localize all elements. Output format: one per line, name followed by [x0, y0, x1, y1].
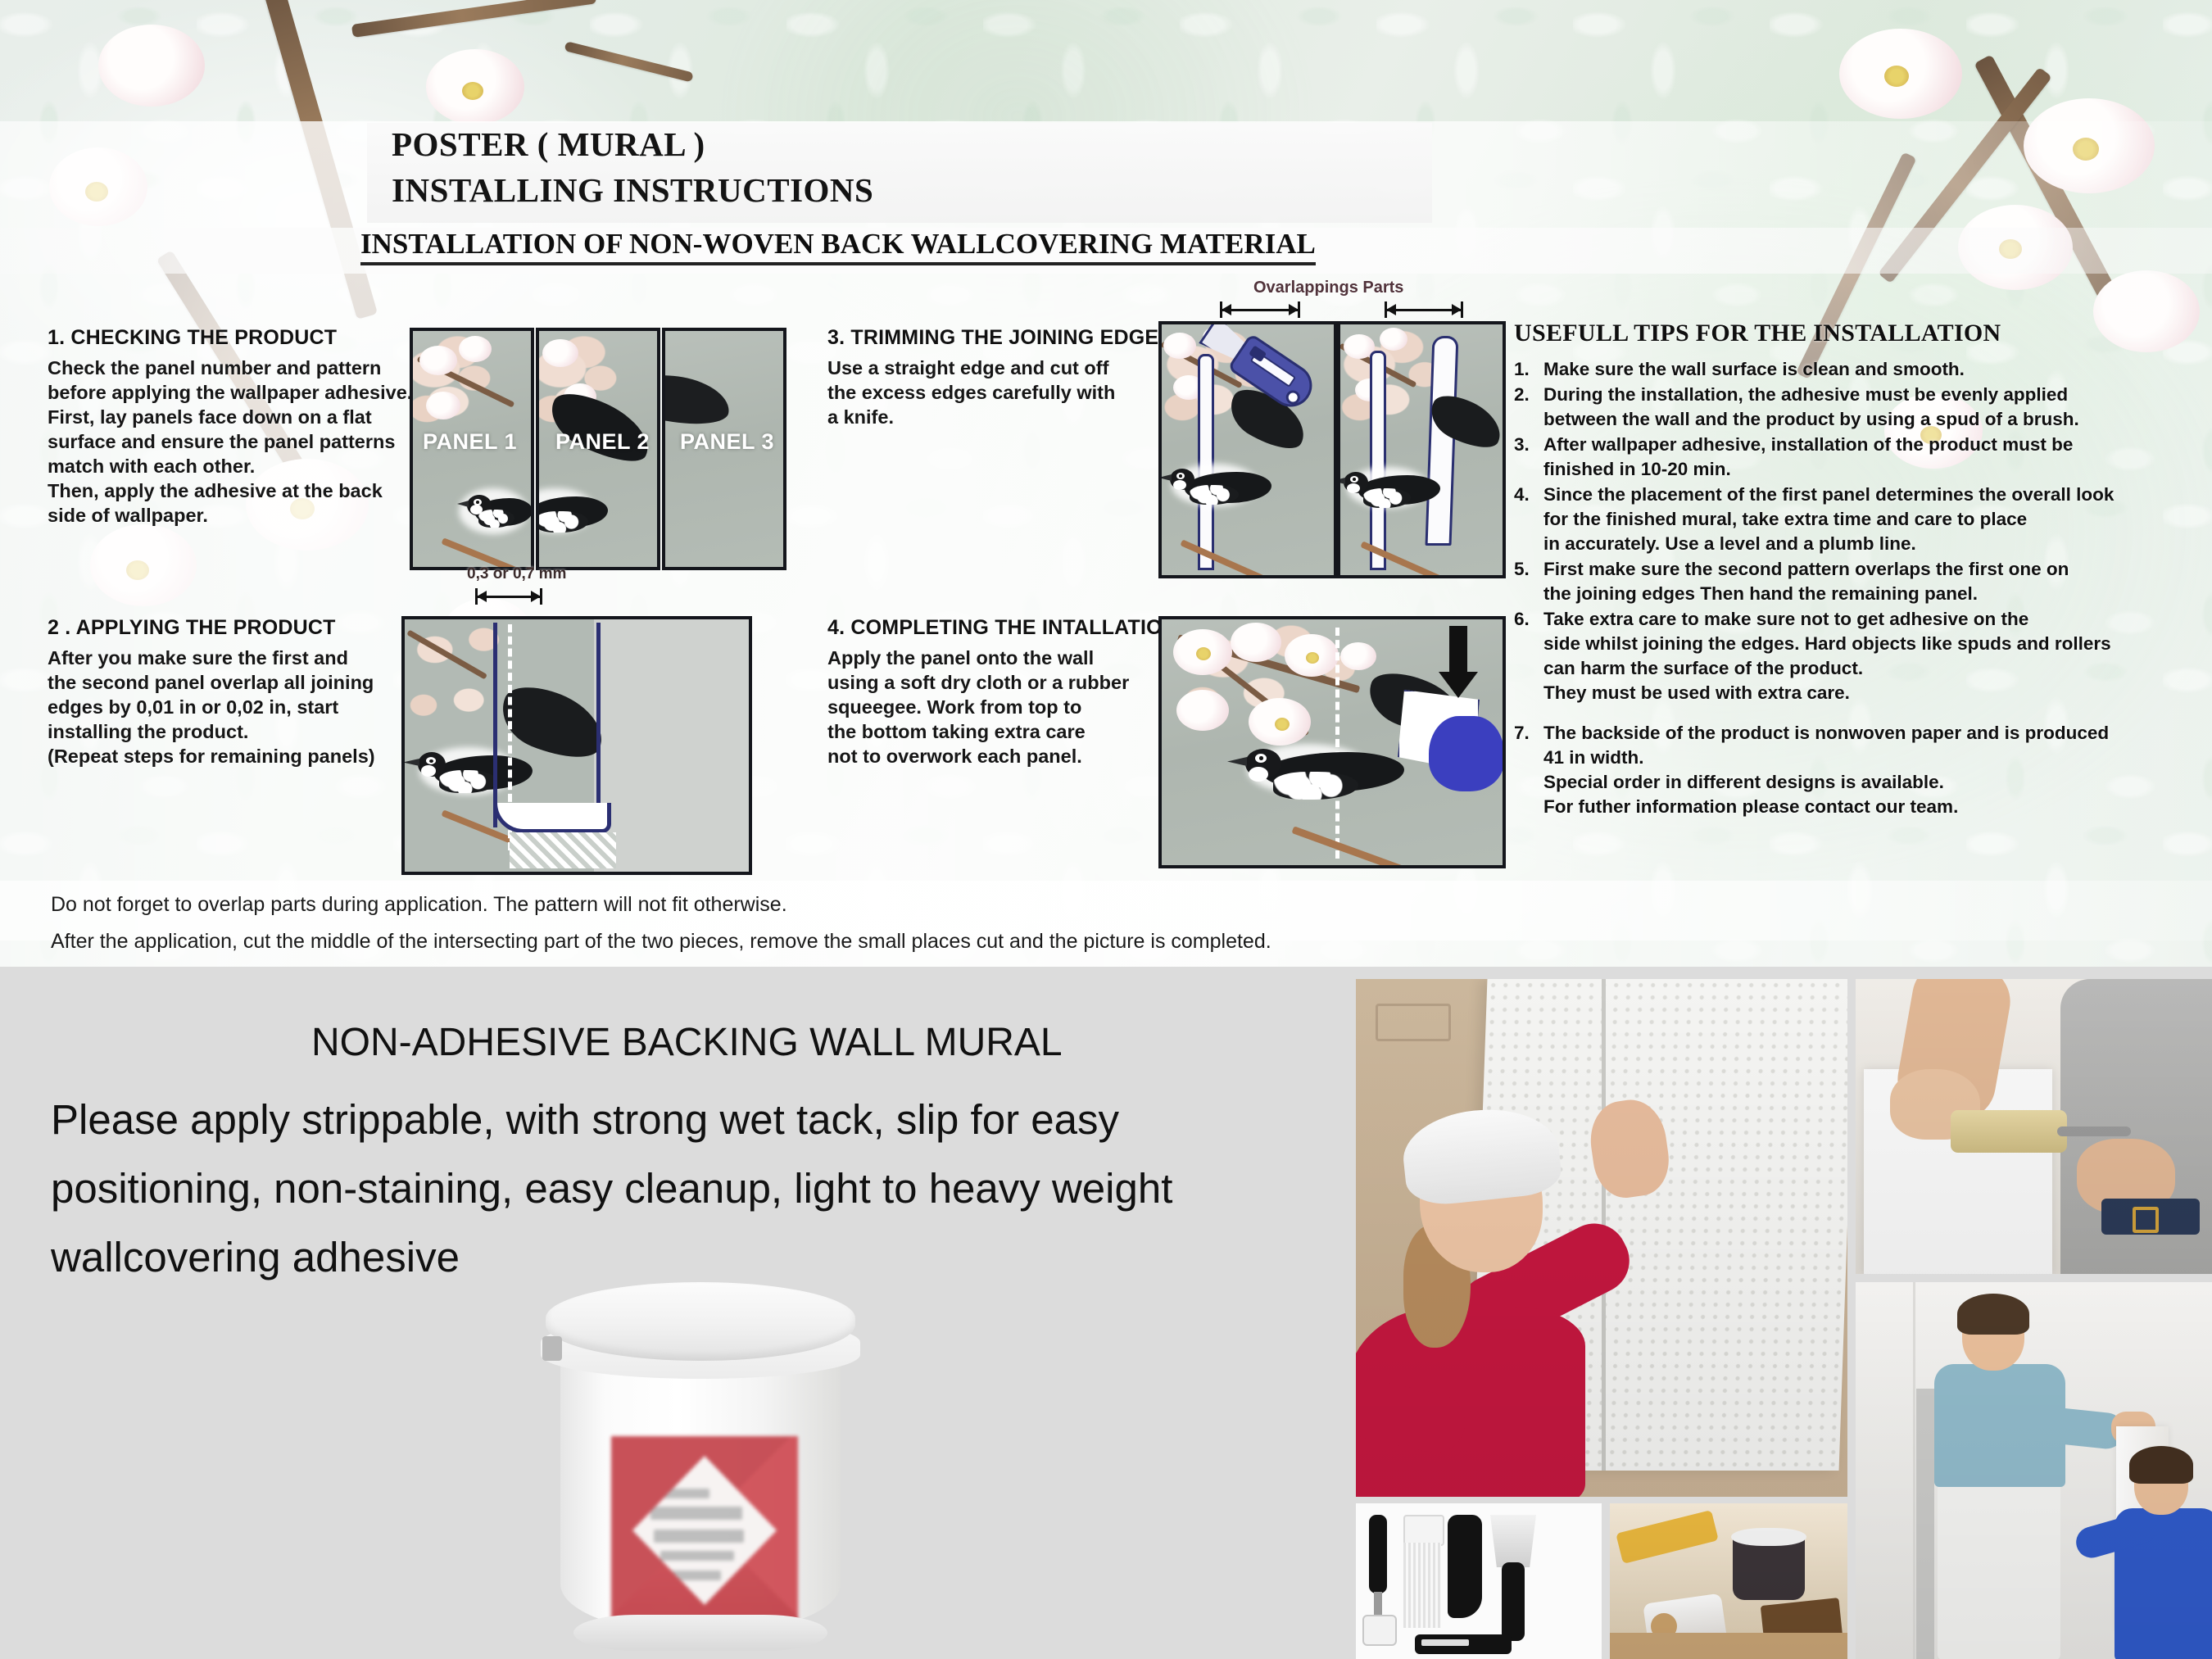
step-1-line-3: First, lay panels face down on a flat — [48, 405, 433, 429]
bottom-paragraph-line-2: positioning, non-staining, easy cleanup,… — [51, 1154, 1329, 1223]
mural-artwork — [1340, 324, 1503, 575]
tip-line: the joining edges Then hand the remainin… — [1543, 582, 2069, 606]
step-3-block: 3. TRIMMING THE JOINING EDGES Use a stra… — [827, 326, 1180, 429]
gloved-hand-icon — [1429, 716, 1504, 791]
step-2-heading: 2 . APPLYING THE PRODUCT — [48, 616, 441, 640]
tip-line: They must be used with extra care. — [1543, 681, 2111, 705]
tip-item-1: 1. Make sure the wall surface is clean a… — [1514, 357, 2202, 382]
page-subtitle: INSTALLATION OF NON-WOVEN BACK WALLCOVER… — [360, 228, 1316, 265]
tip-text: Take extra care to make sure not to get … — [1543, 607, 2111, 705]
poster-page: POSTER ( MURAL ) INSTALLING INSTRUCTIONS… — [0, 0, 2212, 1659]
step-2-line-1: After you make sure the first and — [48, 646, 441, 670]
cut-waste-hatch — [510, 832, 616, 868]
straight-edge-ruler — [1370, 351, 1386, 570]
page-title-line1: POSTER ( MURAL ) — [392, 125, 705, 164]
tip-text: During the installation, the adhesive mu… — [1543, 383, 2079, 432]
tip-number: 1. — [1514, 357, 1543, 382]
overlap-guide-right — [596, 623, 601, 805]
tip-item-2: 2. During the installation, the adhesive… — [1514, 383, 2202, 432]
bucket-lid — [546, 1282, 855, 1361]
gap-dimension-arrow — [475, 588, 542, 605]
tip-line: finished in 10-20 min. — [1543, 457, 2073, 482]
tip-text: First make sure the second pattern overl… — [1543, 557, 2069, 606]
tip-item-4: 4. Since the placement of the first pane… — [1514, 483, 2202, 556]
step-4-line-5: not to overwork each panel. — [827, 744, 1180, 768]
step-3-line-1: Use a straight edge and cut off — [827, 356, 1180, 380]
step-1-block: 1. CHECKING THE PRODUCT Check the panel … — [48, 326, 433, 528]
step-3-line-2: the excess edges carefully with — [827, 380, 1180, 405]
tip-line: between the wall and the product by usin… — [1543, 407, 2079, 432]
tip-number: 7. — [1514, 721, 1543, 819]
tip-item-6: 6. Take extra care to make sure not to g… — [1514, 607, 2202, 705]
step-1-heading: 1. CHECKING THE PRODUCT — [48, 326, 433, 350]
tip-line: 41 in width. — [1543, 746, 2109, 770]
tips-heading: USEFULL TIPS FOR THE INSTALLATION — [1514, 320, 2202, 347]
diagram-panel-3: PANEL 3 — [662, 328, 786, 570]
step-1-line-5: match with each other. — [48, 454, 433, 478]
bucket-label-diamond — [632, 1456, 777, 1605]
page-title-line2: INSTALLING INSTRUCTIONS — [392, 170, 873, 210]
photo-woman-applying-wallpaper — [1356, 979, 1847, 1497]
diagram-panel-1: PANEL 1 — [410, 328, 534, 570]
tip-number: 3. — [1514, 433, 1543, 482]
photo-two-people-hanging-wallpaper — [1856, 1282, 2212, 1659]
bucket-label — [611, 1436, 798, 1625]
tip-line: for the finished mural, take extra time … — [1543, 507, 2114, 532]
tip-line: During the installation, the adhesive mu… — [1543, 383, 2079, 407]
tip-item-7: 7. The backside of the product is nonwov… — [1514, 721, 2202, 819]
step-4-line-3: squeegee. Work from top to — [827, 695, 1180, 719]
panel-label-1: PANEL 1 — [423, 429, 517, 455]
diagram-trimming-straightedge — [1337, 321, 1506, 578]
bird-illustration — [1167, 460, 1298, 531]
tip-text: The backside of the product is nonwoven … — [1543, 721, 2109, 819]
step-2-line-5: (Repeat steps for remaining panels) — [48, 744, 441, 768]
tip-text: Since the placement of the first panel d… — [1543, 483, 2114, 556]
overlap-guide-left — [493, 623, 497, 827]
tip-number: 2. — [1514, 383, 1543, 432]
tip-item-5: 5. First make sure the second pattern ov… — [1514, 557, 2202, 606]
tip-number: 6. — [1514, 607, 1543, 705]
adhesive-bucket-image — [541, 1282, 860, 1651]
overlap-dimension-left — [1220, 301, 1300, 318]
useful-tips-block: USEFULL TIPS FOR THE INSTALLATION 1. Mak… — [1514, 320, 2202, 820]
bird-illustration — [1342, 464, 1465, 533]
photo-tools-on-table — [1610, 1503, 1847, 1659]
bucket-base — [573, 1615, 827, 1651]
instruction-sheet-section: POSTER ( MURAL ) INSTALLING INSTRUCTIONS… — [0, 0, 2212, 967]
diagram-trimming-knife — [1158, 321, 1337, 578]
tip-text: Make sure the wall surface is clean and … — [1543, 357, 1965, 382]
down-arrow-icon — [1439, 626, 1478, 698]
tip-number: 4. — [1514, 483, 1543, 556]
tip-number: 5. — [1514, 557, 1543, 606]
step-2-line-2: the second panel overlap all joining — [48, 670, 441, 695]
overlap-fold — [493, 803, 611, 833]
footer-note-1: Do not forget to overlap parts during ap… — [51, 893, 787, 917]
photo-roller-pasting-wall — [1856, 979, 2212, 1274]
step-4-block: 4. COMPLETING THE INTALLATION Apply the … — [827, 616, 1180, 768]
step-2-line-4: installing the product. — [48, 719, 441, 744]
tip-line: Make sure the wall surface is clean and … — [1543, 357, 1965, 382]
tip-line: in accurately. Use a level and a plumb l… — [1543, 532, 2114, 556]
diagram-overlap-step2 — [401, 616, 752, 875]
bottom-heading: NON-ADHESIVE BACKING WALL MURAL — [311, 1020, 1063, 1065]
step-3-heading: 3. TRIMMING THE JOINING EDGES — [827, 326, 1180, 350]
bird-illustration — [536, 487, 634, 552]
tip-line: can harm the surface of the product. — [1543, 656, 2111, 681]
step-1-line-2: before applying the wallpaper adhesive. — [48, 380, 433, 405]
overlap-parts-label: Ovarlappings Parts — [1253, 279, 1403, 297]
step-2-line-3: edges by 0,01 in or 0,02 in, start — [48, 695, 441, 719]
photo-wallpaper-tool-kit — [1356, 1503, 1602, 1659]
panel-label-3: PANEL 3 — [680, 429, 774, 455]
gap-dimension-label: 0,3 or 0,7 mm — [467, 565, 566, 583]
tip-line: Special order in different designs is av… — [1543, 770, 2109, 795]
diagram-completing-installation — [1158, 616, 1506, 868]
step-4-line-1: Apply the panel onto the wall — [827, 646, 1180, 670]
footer-note-2: After the application, cut the middle of… — [51, 930, 1271, 954]
tip-line: side whilst joining the edges. Hard obje… — [1543, 632, 2111, 656]
step-1-line-4: surface and ensure the panel patterns — [48, 429, 433, 454]
tip-line: After wallpaper adhesive, installation o… — [1543, 433, 2073, 457]
step-1-body: Check the panel number and pattern befor… — [48, 356, 433, 528]
diagram-panel-2: PANEL 2 — [536, 328, 660, 570]
overlap-dimension-right — [1385, 301, 1463, 318]
tip-line: The backside of the product is nonwoven … — [1543, 721, 2109, 746]
bottom-paragraph-line-1: Please apply strippable, with strong wet… — [51, 1086, 1329, 1154]
tip-item-3: 3. After wallpaper adhesive, installatio… — [1514, 433, 2202, 482]
step-4-line-2: using a soft dry cloth or a rubber — [827, 670, 1180, 695]
tip-line: For futher information please contact ou… — [1543, 795, 2109, 819]
panel-label-2: PANEL 2 — [555, 429, 650, 455]
photo-collage — [1356, 979, 2212, 1659]
bird-illustration — [464, 485, 534, 542]
step-1-line-7: side of wallpaper. — [48, 503, 433, 528]
step-1-line-6: Then, apply the adhesive at the back — [48, 478, 433, 503]
tip-line: Take extra care to make sure not to get … — [1543, 607, 2111, 632]
step-3-body: Use a straight edge and cut off the exce… — [827, 356, 1180, 429]
step-4-heading: 4. COMPLETING THE INTALLATION — [827, 616, 1180, 640]
tip-text: After wallpaper adhesive, installation o… — [1543, 433, 2073, 482]
bottom-paragraph: Please apply strippable, with strong wet… — [51, 1086, 1329, 1292]
step-3-line-3: a knife. — [827, 405, 1180, 429]
step-4-line-4: the bottom taking extra care — [827, 719, 1180, 744]
tips-spacer — [1514, 706, 2202, 721]
tip-line: Since the placement of the first panel d… — [1543, 483, 2114, 507]
step-1-line-1: Check the panel number and pattern — [48, 356, 433, 380]
tip-line: First make sure the second pattern overl… — [1543, 557, 2069, 582]
step-2-body: After you make sure the first and the se… — [48, 646, 441, 768]
bucket-clip — [542, 1336, 562, 1361]
step-2-block: 2 . APPLYING THE PRODUCT After you make … — [48, 616, 441, 768]
step-4-body: Apply the panel onto the wall using a so… — [827, 646, 1180, 768]
